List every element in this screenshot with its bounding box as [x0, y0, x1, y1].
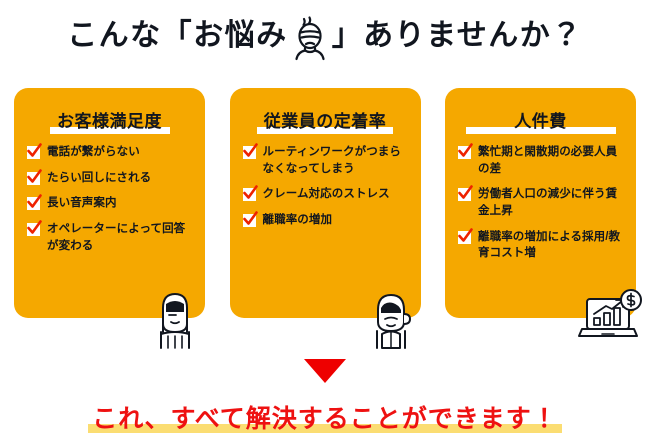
list-item: オペレーターによって回答が変わる — [27, 221, 195, 254]
person-headset-icon — [365, 288, 417, 350]
page-headline: こんな「お悩み 」ありませんか？ — [0, 12, 650, 60]
card-title-wrap: お客様満足度 — [14, 88, 205, 134]
card-employee-retention: 従業員の定着率 ルーティンワークがつまらなくなってしまう クレーム対応のストレス… — [230, 88, 421, 318]
worried-face-icon — [288, 15, 332, 61]
list-item-label: 離職率の増加 — [263, 212, 333, 229]
list-item-label: オペレーターによって回答が変わる — [47, 221, 195, 254]
list-item: 離職率の増加 — [243, 212, 411, 229]
card-item-list: 繁忙期と閑散期の必要人員の差 労働者人口の減少に伴う賃金上昇 離職率の増加による… — [445, 134, 636, 262]
list-item-label: 労働者人口の減少に伴う賃金上昇 — [478, 186, 626, 219]
list-item-label: たらい回しにされる — [47, 170, 151, 187]
person-long-hair-icon — [149, 288, 201, 350]
list-item: たらい回しにされる — [27, 170, 195, 187]
check-icon — [458, 146, 471, 159]
list-item-label: 電話が繋がらない — [47, 144, 140, 161]
list-item: 長い音声案内 — [27, 195, 195, 212]
check-icon — [27, 146, 40, 159]
list-item-label: 離職率の増加による採用/教育コスト増 — [478, 229, 626, 262]
card-title: 従業員の定着率 — [264, 113, 387, 132]
list-item-label: ルーティンワークがつまらなくなってしまう — [263, 144, 411, 177]
card-item-list: ルーティンワークがつまらなくなってしまう クレーム対応のストレス 離職率の増加 — [230, 134, 421, 229]
list-item: 離職率の増加による採用/教育コスト増 — [458, 229, 626, 262]
down-triangle-icon — [304, 359, 346, 383]
check-icon — [27, 223, 40, 236]
list-item: 繁忙期と閑散期の必要人員の差 — [458, 144, 626, 177]
laptop-chart-dollar-icon — [578, 288, 644, 344]
list-item: ルーティンワークがつまらなくなってしまう — [243, 144, 411, 177]
check-icon — [27, 172, 40, 185]
headline-text-after: 」ありませんか？ — [332, 21, 583, 51]
list-item-label: クレーム対応のストレス — [263, 186, 390, 203]
list-item-label: 繁忙期と閑散期の必要人員の差 — [478, 144, 626, 177]
card-title: お客様満足度 — [57, 113, 162, 132]
list-item: 労働者人口の減少に伴う賃金上昇 — [458, 186, 626, 219]
card-item-list: 電話が繋がらない たらい回しにされる 長い音声案内 オペレーターによって回答が変… — [14, 134, 205, 254]
check-icon — [458, 231, 471, 244]
check-icon — [243, 146, 256, 159]
conclusion-inner: これ、すべて解決することができます！ — [88, 404, 562, 434]
card-title-wrap: 従業員の定着率 — [230, 88, 421, 134]
card-title: 人件費 — [514, 113, 567, 132]
check-icon — [458, 188, 471, 201]
card-labor-cost: 人件費 繁忙期と閑散期の必要人員の差 労働者人口の減少に伴う賃金上昇 離職率の増… — [445, 88, 636, 318]
check-icon — [243, 188, 256, 201]
list-item-label: 長い音声案内 — [47, 195, 117, 212]
check-icon — [243, 214, 256, 227]
headline-text-before: こんな「お悩み — [67, 21, 288, 51]
check-icon — [27, 197, 40, 210]
pain-point-cards: お客様満足度 電話が繋がらない たらい回しにされる 長い音声案内 — [0, 88, 650, 320]
conclusion-banner: これ、すべて解決することができます！ — [0, 398, 650, 440]
list-item: 電話が繋がらない — [27, 144, 195, 161]
card-title-wrap: 人件費 — [445, 88, 636, 134]
list-item: クレーム対応のストレス — [243, 186, 411, 203]
card-customer-satisfaction: お客様満足度 電話が繋がらない たらい回しにされる 長い音声案内 — [14, 88, 205, 318]
conclusion-text: これ、すべて解決することができます！ — [92, 405, 558, 433]
